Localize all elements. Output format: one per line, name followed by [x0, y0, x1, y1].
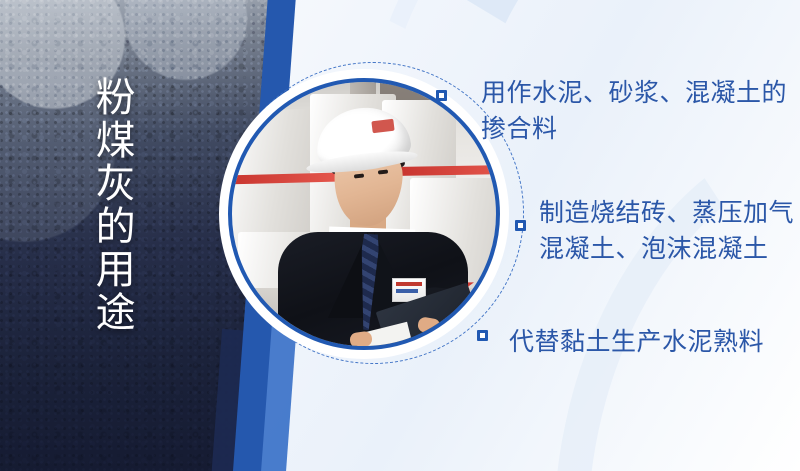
photo-star-mark: ★ — [244, 296, 257, 311]
page-title: 粉煤灰的用途 — [88, 76, 134, 334]
square-bullet-icon — [515, 220, 526, 231]
use-item-2-text: 制造烧结砖、蒸压加气 混凝土、泡沫混凝土 — [539, 196, 800, 267]
square-bullet-icon — [436, 90, 447, 101]
use-item-1-text: 用作水泥、砂浆、混凝土的 掺合料 — [481, 76, 800, 147]
photo-red-stripe — [400, 165, 496, 176]
banner-root: 粉煤灰的用途 ★ ★ ★ — [0, 0, 800, 471]
use-item-3-text: 代替黏土生产水泥熟料 — [509, 325, 800, 361]
photo-circle: ★ ★ ★ — [228, 78, 500, 350]
person-hand — [349, 331, 373, 346]
photo-image: ★ ★ ★ — [232, 82, 496, 346]
